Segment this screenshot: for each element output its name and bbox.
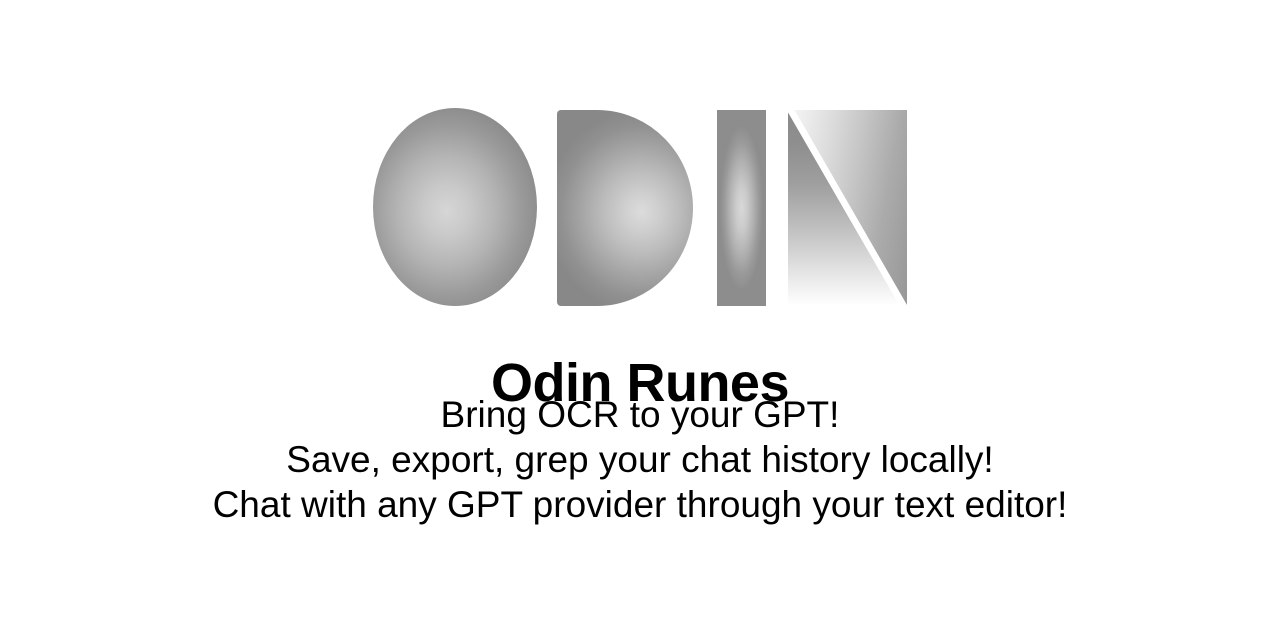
logo-letter-o (373, 108, 537, 306)
page-root: Odin Runes Bring OCR to your GPT! Save, … (0, 0, 1280, 640)
tagline-line-3: Chat with any GPT provider through your … (0, 482, 1280, 527)
tagline: Bring OCR to your GPT! Save, export, gre… (0, 392, 1280, 527)
odin-runes-logo (0, 0, 1280, 320)
logo-letter-d (557, 110, 693, 306)
tagline-line-2: Save, export, grep your chat history loc… (0, 437, 1280, 482)
tagline-line-1: Bring OCR to your GPT! (0, 392, 1280, 437)
logo-letter-i (717, 110, 766, 306)
logo-letter-n (788, 110, 907, 306)
